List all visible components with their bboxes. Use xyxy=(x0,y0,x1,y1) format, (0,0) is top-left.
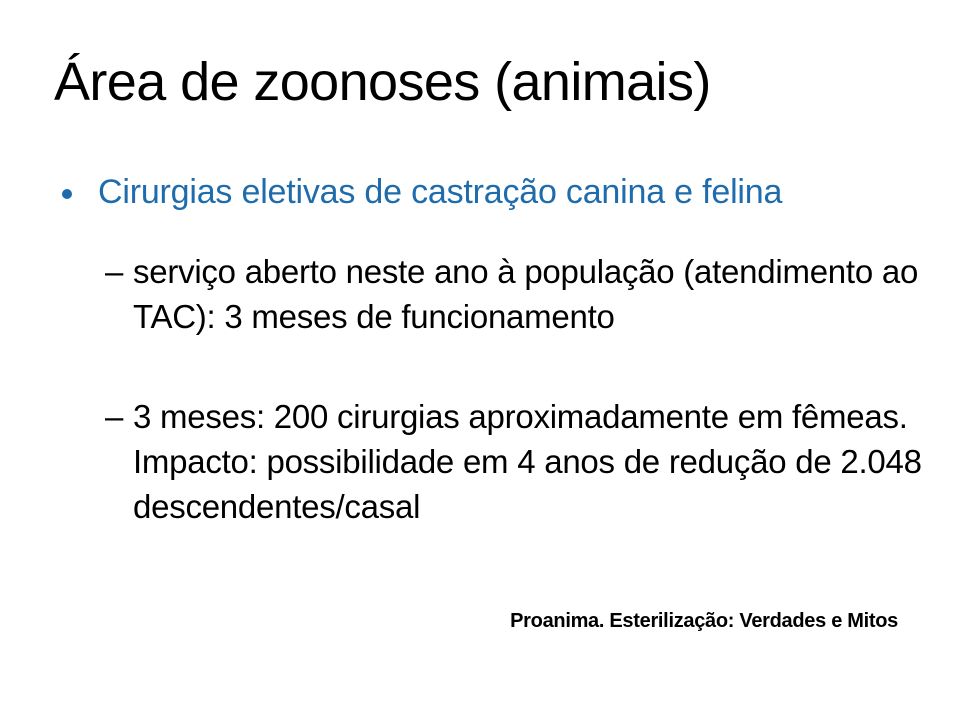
bullet-level1-label: Cirurgias eletivas de castração canina e… xyxy=(98,173,782,211)
source-citation: Proanima. Esterilização: Verdades e Mito… xyxy=(0,608,898,634)
bullet-dot-icon xyxy=(62,189,72,199)
spacer xyxy=(54,228,924,250)
bullet-level2-item-2: – 3 meses: 200 cirurgias aproximadamente… xyxy=(54,395,924,530)
bullet-level2-label-2: 3 meses: 200 cirurgias aproximadamente e… xyxy=(133,395,924,530)
slide-title: Área de zoonoses (animais) xyxy=(54,52,914,112)
bullet-level1-item: Cirurgias eletivas de castração canina e… xyxy=(54,170,924,214)
en-dash-marker-icon: – xyxy=(105,250,123,295)
presentation-slide: Área de zoonoses (animais) Cirurgias ele… xyxy=(0,0,960,720)
bullet-level2-item-1: – serviço aberto neste ano à população (… xyxy=(54,250,924,340)
bullet-level2-label-1: serviço aberto neste ano à população (at… xyxy=(133,250,924,340)
spacer xyxy=(54,340,924,395)
slide-body-content: Cirurgias eletivas de castração canina e… xyxy=(54,170,924,530)
en-dash-marker-icon: – xyxy=(105,395,123,440)
